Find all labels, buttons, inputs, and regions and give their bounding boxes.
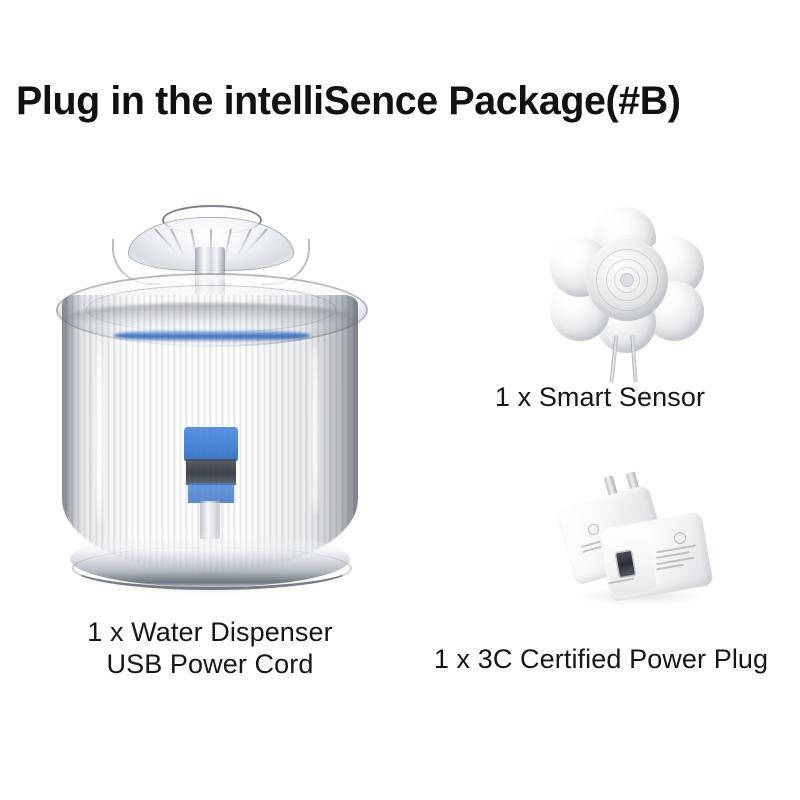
product-image-smart-sensor (548, 205, 708, 370)
product-image-power-plug (548, 470, 728, 620)
tank-highlight (96, 335, 103, 525)
caption-water-dispenser: 1 x Water Dispenser USB Power Cord (20, 616, 400, 680)
pump-blue-lower (188, 483, 234, 503)
product-package-image: Plug in the intelliSence Package(#B) (0, 0, 800, 800)
caption-power-plug: 1 x 3C Certified Power Plug (405, 643, 797, 675)
plug-cert-mark (588, 524, 599, 535)
sensor-pir-lens (586, 239, 668, 321)
product-image-water-dispenser (50, 195, 370, 610)
tank-water-line (114, 329, 310, 342)
tank-top-shadow-band (70, 303, 350, 329)
dispenser-base-rim (72, 547, 352, 590)
pump-dark-band (186, 459, 236, 485)
lens-center (620, 273, 634, 287)
plug-cert-mark (674, 532, 686, 544)
internal-pump-module (180, 427, 242, 539)
caption-smart-sensor: 1 x Smart Sensor (410, 381, 790, 413)
pump-blue-upper (184, 427, 238, 461)
caption-line-1: 1 x Water Dispenser (20, 616, 400, 648)
tank-highlight (312, 345, 318, 515)
dispenser-tank-body (62, 295, 358, 570)
caption-line-2: USB Power Cord (20, 648, 400, 680)
page-title: Plug in the intelliSence Package(#B) (16, 78, 784, 124)
